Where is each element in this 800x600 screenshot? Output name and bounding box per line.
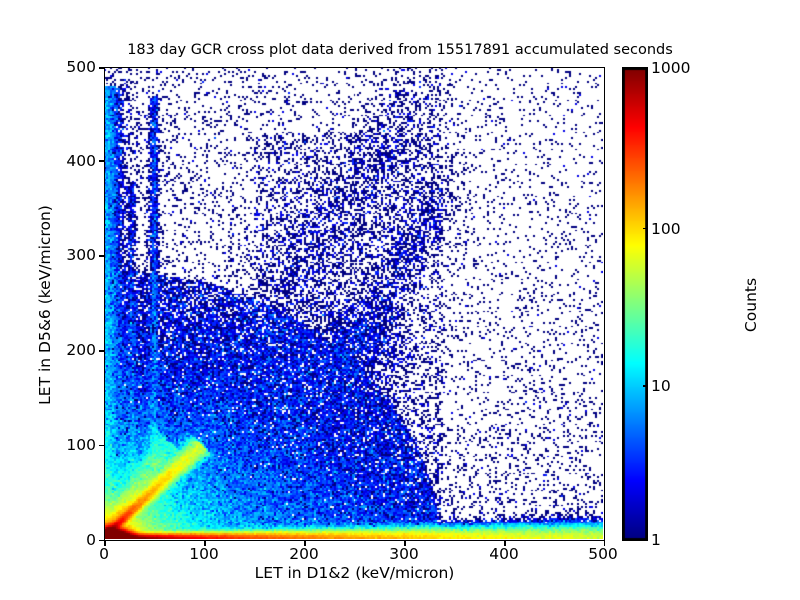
y-tick-500 bbox=[99, 67, 104, 69]
y-tick-100 bbox=[99, 445, 104, 447]
y-tick-0 bbox=[99, 540, 104, 542]
figure-canvas: 183 day GCR cross plot data derived from… bbox=[0, 0, 800, 600]
colorbar-tick-10 bbox=[643, 385, 648, 387]
y-tick-300 bbox=[99, 255, 104, 257]
y-tick-400 bbox=[99, 160, 104, 162]
colorbar-tick-1 bbox=[643, 540, 648, 542]
x-tick-label-400: 400 bbox=[479, 545, 529, 563]
y-tick-label-500: 500 bbox=[34, 58, 96, 76]
density-scatter-plot bbox=[105, 68, 603, 539]
plot-title-line-1: 183 day GCR cross plot data derived from… bbox=[0, 42, 800, 59]
colorbar-tick-label-10: 10 bbox=[651, 377, 671, 395]
x-tick-label-500: 500 bbox=[578, 545, 628, 563]
x-tick-label-100: 100 bbox=[179, 545, 229, 563]
y-axis-label: LET in D5&6 (keV/micron) bbox=[36, 155, 54, 455]
colorbar-label: Counts bbox=[742, 155, 760, 455]
x-tick-label-200: 200 bbox=[279, 545, 329, 563]
colorbar bbox=[622, 67, 648, 541]
x-axis-label: LET in D1&2 (keV/micron) bbox=[104, 564, 605, 582]
colorbar-tick-1000 bbox=[643, 67, 648, 69]
plot-area bbox=[104, 67, 605, 541]
y-tick-label-0: 0 bbox=[34, 531, 96, 549]
colorbar-tick-100 bbox=[643, 228, 648, 230]
colorbar-tick-label-1000: 1000 bbox=[651, 59, 690, 77]
colorbar-tick-label-100: 100 bbox=[651, 220, 681, 238]
y-tick-200 bbox=[99, 350, 104, 352]
colorbar-gradient bbox=[622, 67, 648, 541]
colorbar-tick-label-1: 1 bbox=[651, 531, 661, 549]
x-tick-label-300: 300 bbox=[379, 545, 429, 563]
